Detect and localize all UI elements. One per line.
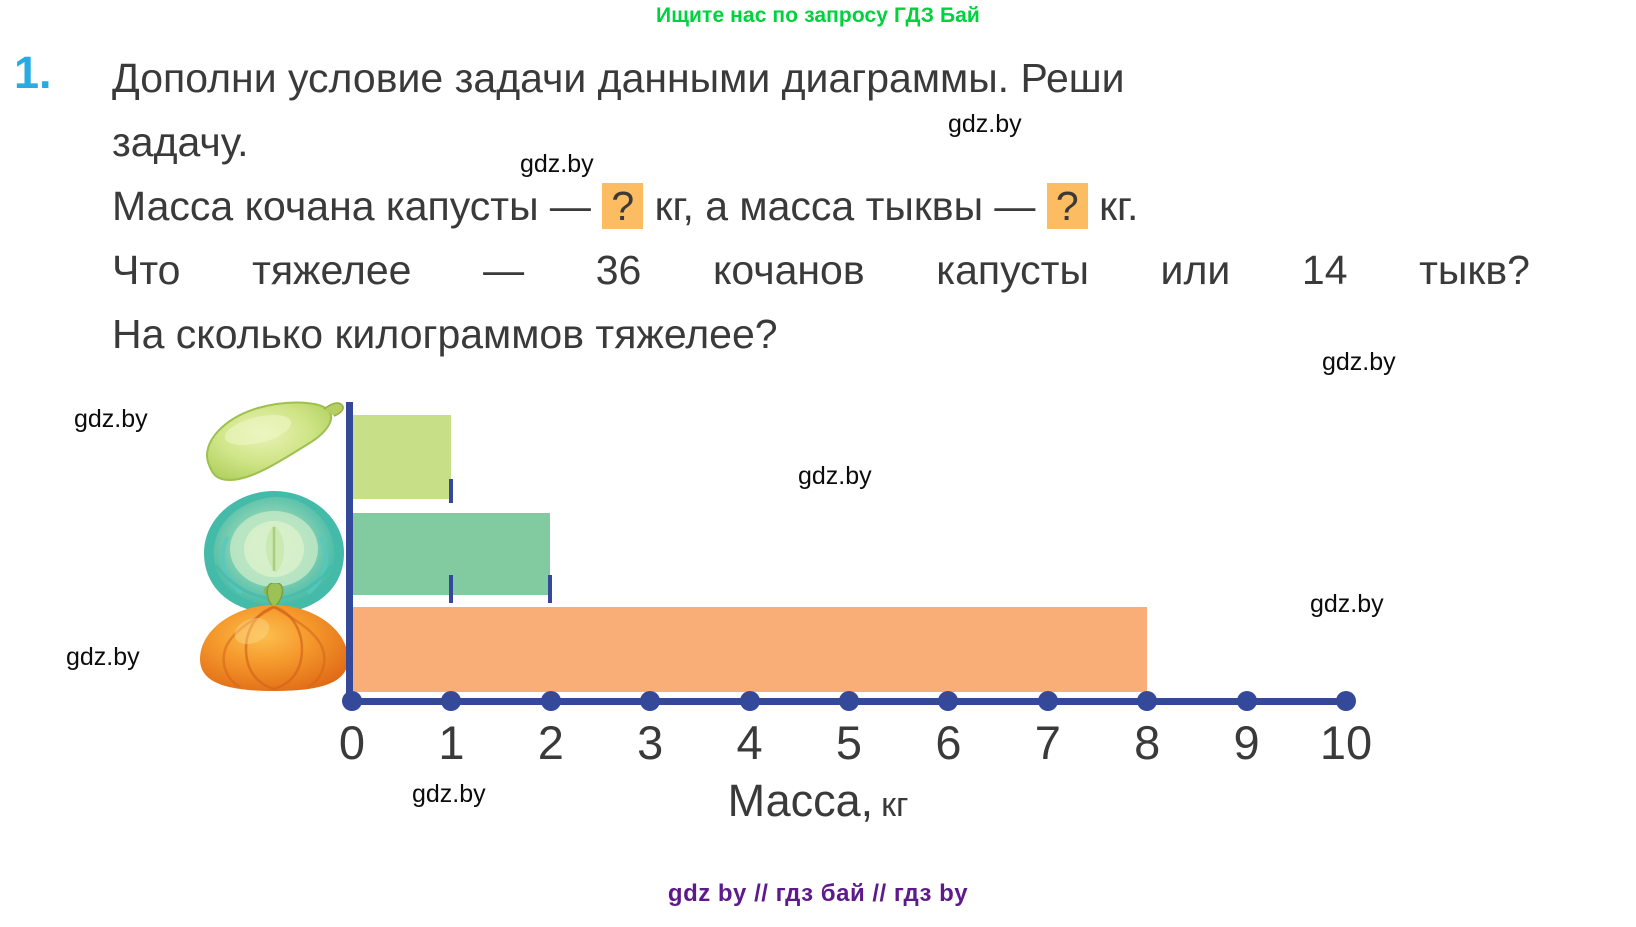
task-line-4-w2: — [483,238,524,302]
x-tick-label: 7 [1003,719,1093,766]
task-line-3-part-a: Масса кочана капусты — [112,183,591,229]
x-tick-label: 6 [903,719,993,766]
task-line-4-w0: Что [112,238,180,302]
x-tick-label: 2 [506,719,596,766]
task-line-4-w3: 36 [596,238,642,302]
unknown-mass-pumpkin[interactable]: ? [1047,183,1088,229]
x-axis-title-unit: кг [881,786,908,824]
task-line-4-w4: кочанов [713,238,865,302]
task-line-3-part-b: кг, а масса тыквы — [655,183,1036,229]
task-line-4-w7: 14 [1302,238,1348,302]
task-line-4-w8: тыкв? [1419,238,1530,302]
top-banner-text: Ищите нас по запросу ГДЗ Бай [0,4,1636,28]
x-tick-label: 5 [804,719,894,766]
x-tick-dot [342,691,362,711]
x-tick-dot [1237,691,1257,711]
x-tick-dot [839,691,859,711]
watermark-label: gdz.by [1322,348,1396,377]
x-tick-label: 9 [1202,719,1292,766]
x-tick-dot [640,691,660,711]
watermark-label: gdz.by [948,110,1022,139]
tick-stub-2 [548,575,552,603]
watermark-label: gdz.by [1310,590,1384,619]
task-line-4-w5: капусты [936,238,1089,302]
unknown-mass-cabbage[interactable]: ? [602,183,643,229]
x-axis-title: Масса,кг [0,775,1636,827]
tick-stub-1b [449,575,453,603]
pumpkin-icon [196,583,352,693]
x-tick-dot [1137,691,1157,711]
bar-chart: 012345678910 [0,380,1636,820]
x-tick-dot [541,691,561,711]
task-text-block: Дополни условие задачи данными диаграммы… [112,46,1612,366]
x-tick-dot [441,691,461,711]
bar-zucchini [352,415,451,499]
task-line-4: Что тяжелее — 36 кочанов капусты или 14 … [112,238,1530,302]
task-number: 1. [14,50,52,95]
x-tick-label: 4 [705,719,795,766]
footer-text: gdz by // гдз бай // гдз by [0,880,1636,908]
task-line-3: Масса кочана капусты — ? кг, а масса тык… [112,174,1612,238]
task-line-4-w1: тяжелее [252,238,411,302]
page-root: Ищите нас по запросу ГДЗ Бай 1. Дополни … [0,0,1636,927]
y-axis-line [346,402,353,697]
task-line-2: задачу. [112,110,1612,174]
watermark-label: gdz.by [520,150,594,179]
x-tick-dot [938,691,958,711]
x-tick-label: 0 [307,719,397,766]
x-tick-label: 10 [1301,719,1391,766]
watermark-label: gdz.by [412,780,486,809]
x-tick-dot [1038,691,1058,711]
x-tick-label: 1 [406,719,496,766]
x-tick-dot [740,691,760,711]
watermark-label: gdz.by [798,462,872,491]
task-line-4-w6: или [1161,238,1231,302]
task-line-1: Дополни условие задачи данными диаграммы… [112,46,1612,110]
zucchini-icon [196,392,346,497]
bar-pumpkin [352,607,1147,692]
watermark-label: gdz.by [74,405,148,434]
watermark-label: gdz.by [66,643,140,672]
x-tick-label: 8 [1102,719,1192,766]
x-axis-title-main: Масса, [728,775,874,826]
x-tick-dot [1336,691,1356,711]
x-tick-label: 3 [605,719,695,766]
task-line-3-part-c: кг. [1099,183,1138,229]
tick-stub-1 [449,479,453,503]
